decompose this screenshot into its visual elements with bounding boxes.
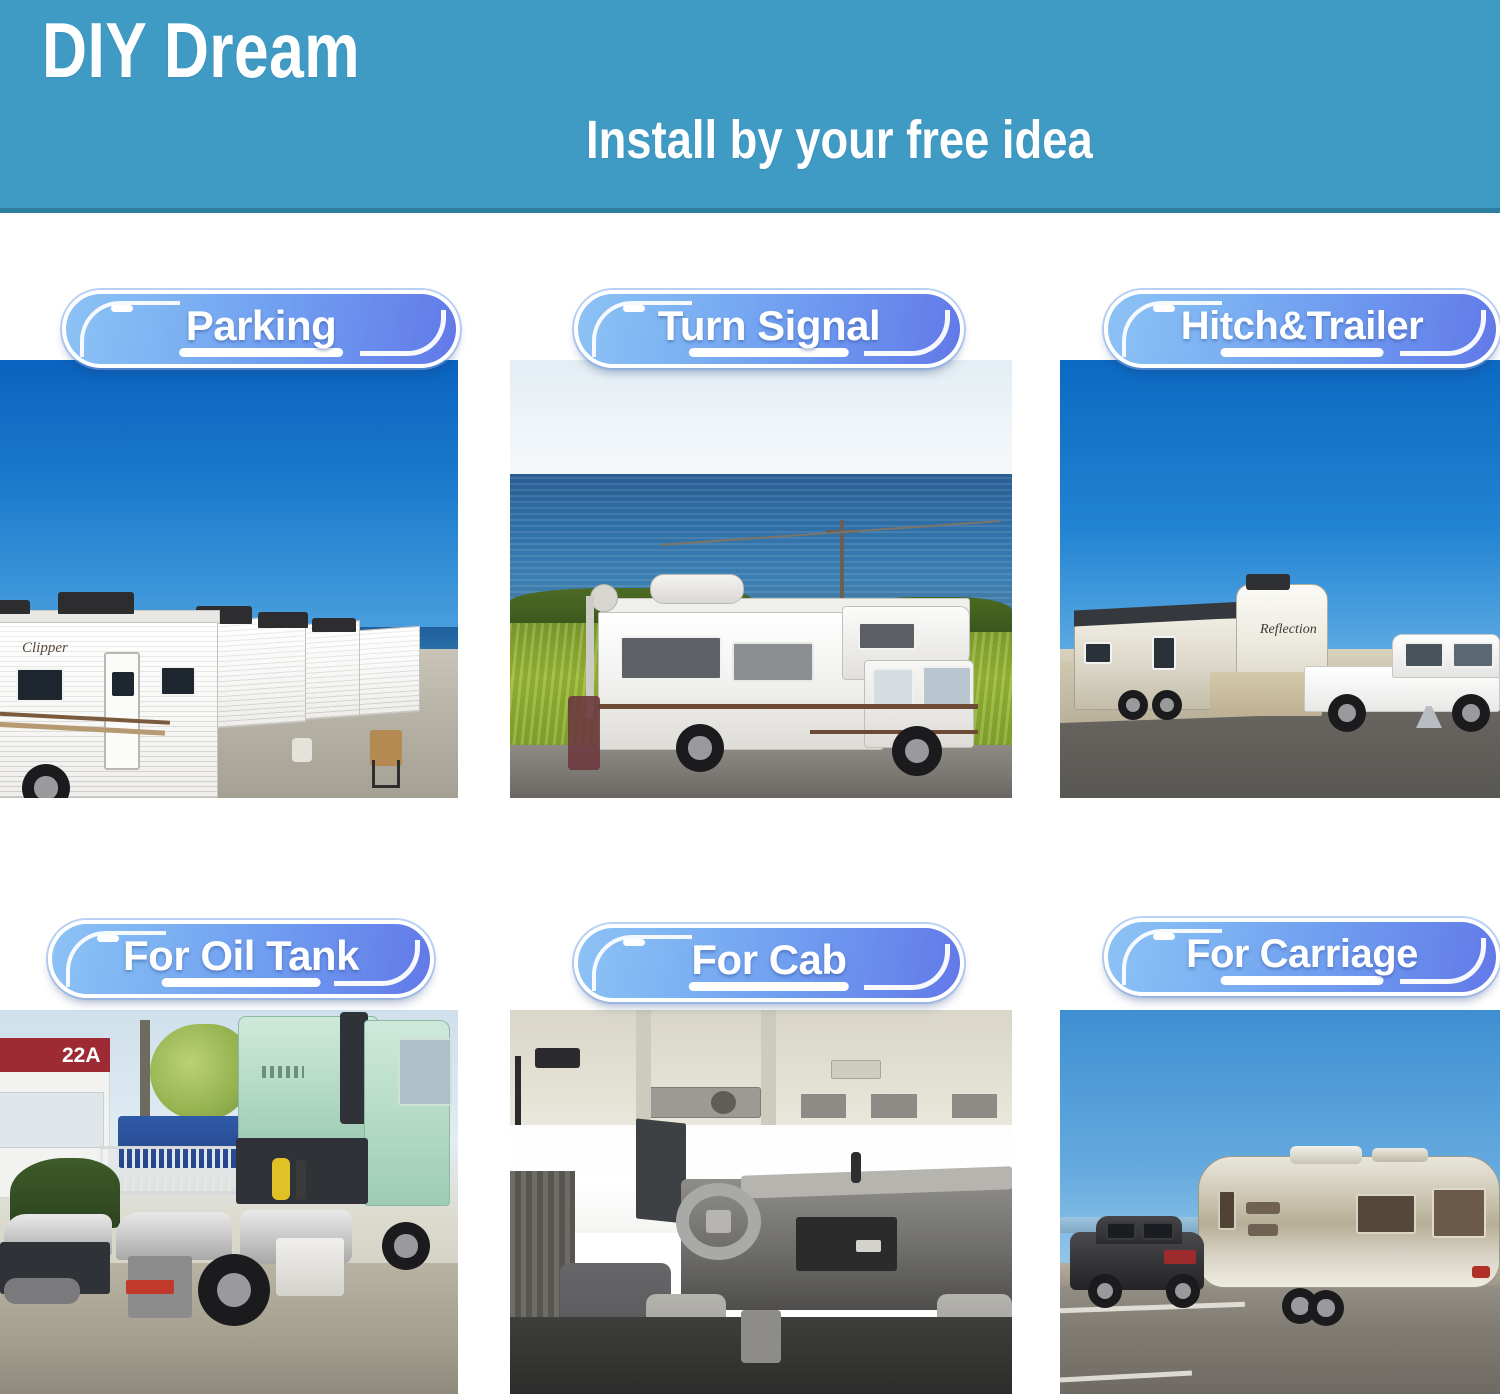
badge-label-hitch-trailer: Hitch&Trailer xyxy=(1159,304,1445,349)
badge-oil-tank[interactable]: For Oil Tank xyxy=(48,920,434,998)
building-number-sign: 22A xyxy=(62,1044,101,1068)
badge-label-carriage: For Carriage xyxy=(1164,932,1440,977)
badge-carriage[interactable]: For Carriage xyxy=(1104,918,1500,996)
header-banner: DIY Dream Install by your free idea xyxy=(0,0,1500,213)
infographic-page: DIY Dream Install by your free idea xyxy=(0,0,1500,1394)
badge-label-parking: Parking xyxy=(164,302,359,350)
photo-parking: Clipper xyxy=(0,360,458,798)
badge-highlight-dash xyxy=(623,939,645,946)
photo-turn-signal xyxy=(510,360,1012,798)
badge-label-cab: For Cab xyxy=(669,936,868,984)
badge-label-turn-signal: Turn Signal xyxy=(636,302,902,350)
photo-hitch-trailer: Reflection xyxy=(1060,360,1500,798)
badge-highlight-dash xyxy=(111,305,133,312)
badge-label-oil-tank: For Oil Tank xyxy=(101,932,381,980)
badge-hitch-trailer[interactable]: Hitch&Trailer xyxy=(1104,290,1500,368)
photo-oil-tank: 22A xyxy=(0,1010,458,1394)
badge-turn-signal[interactable]: Turn Signal xyxy=(574,290,964,368)
badge-highlight-arc xyxy=(360,310,446,356)
badge-underline xyxy=(1221,976,1384,985)
badge-cab[interactable]: For Cab xyxy=(574,924,964,1002)
badge-parking[interactable]: Parking xyxy=(62,290,460,368)
badge-underline xyxy=(1221,348,1384,357)
photo-cab xyxy=(510,1010,1012,1394)
page-title: DIY Dream xyxy=(42,10,360,92)
page-subtitle: Install by your free idea xyxy=(586,112,1093,169)
badge-highlight-arc xyxy=(864,944,950,990)
photo-carriage xyxy=(1060,1010,1500,1394)
